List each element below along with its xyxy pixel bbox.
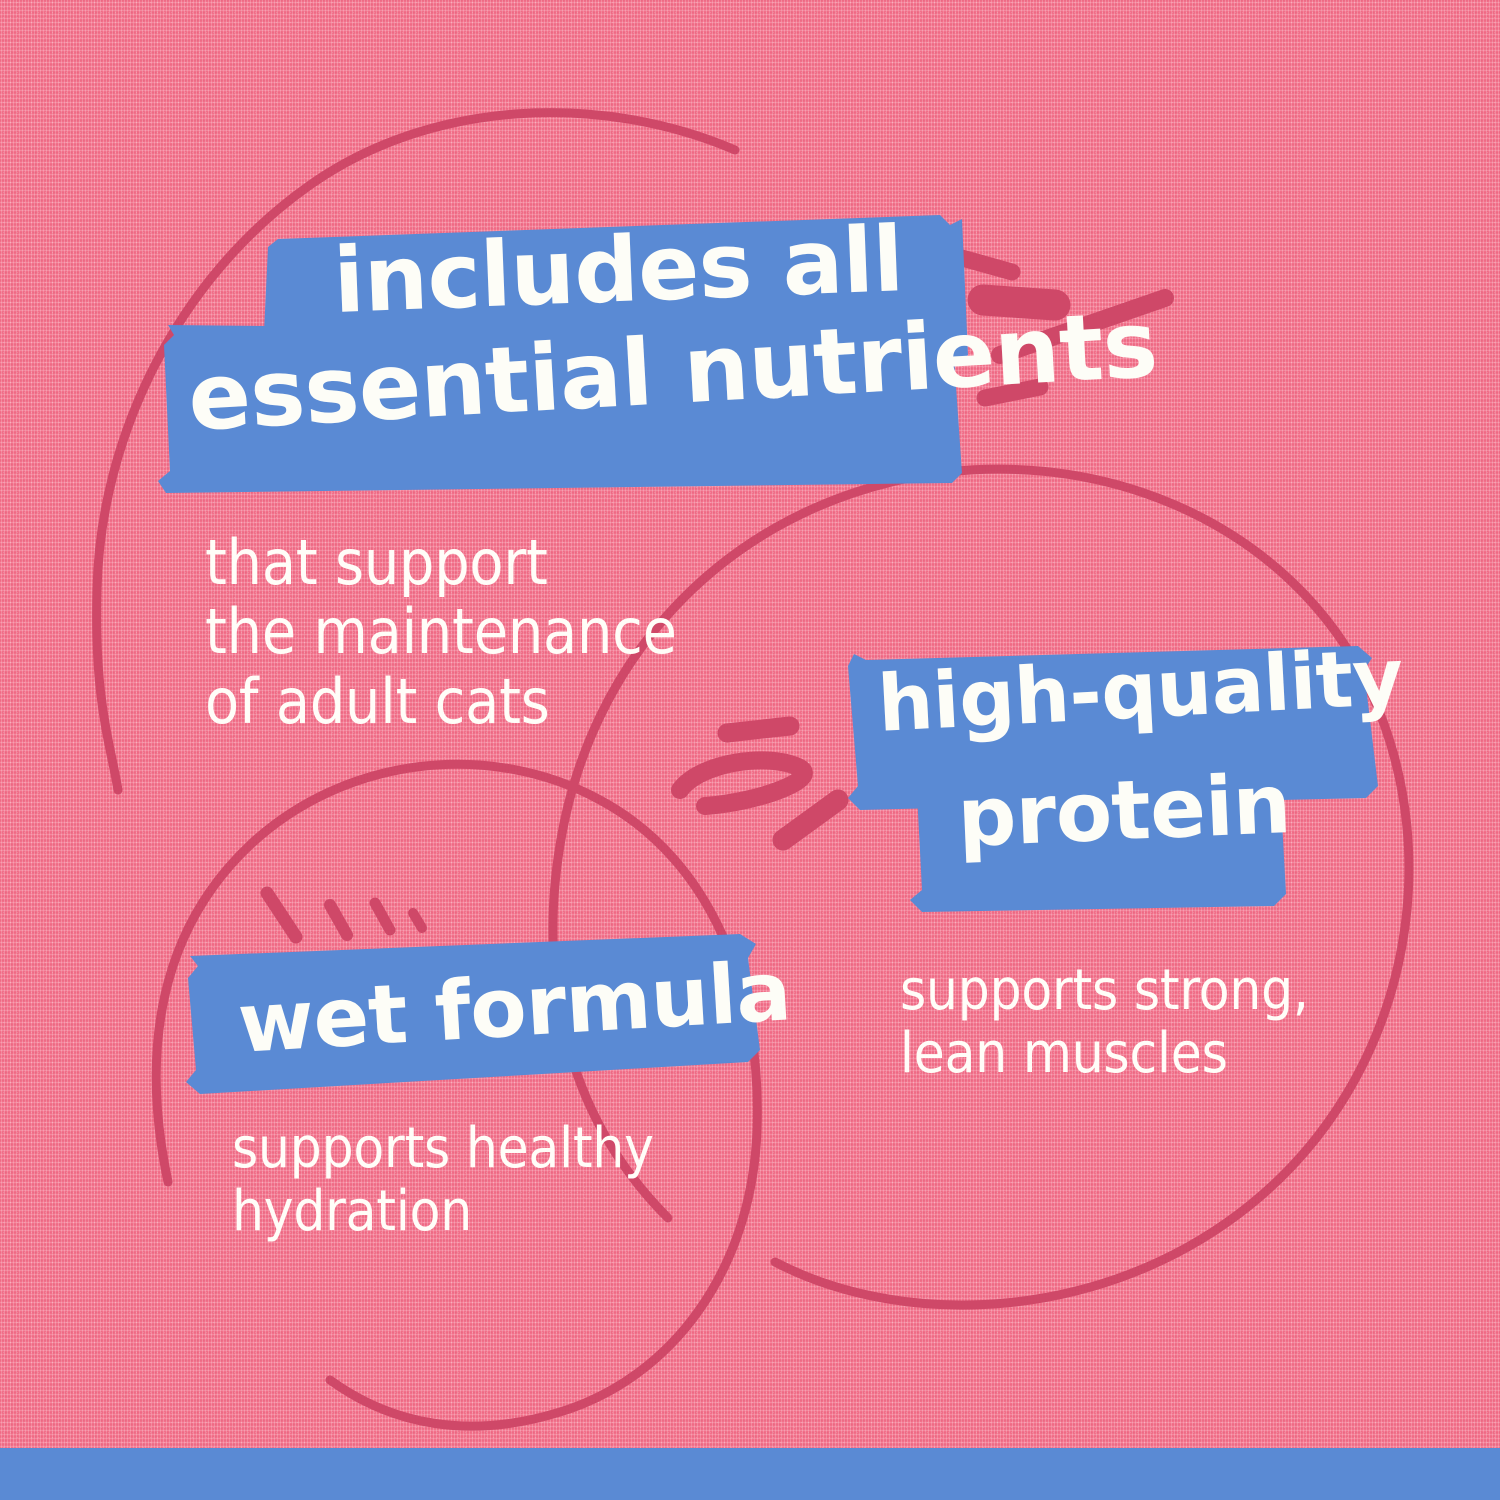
- body-copy-high-quality-protein: supports strong, lean muscles: [900, 960, 1309, 1085]
- body-copy-essential-nutrients: that support the maintenance of adult ca…: [205, 528, 677, 736]
- badge-wet-formula: wet formula: [180, 930, 780, 1110]
- badge-high-quality-protein: high-quality protein: [838, 640, 1398, 920]
- badge-line-essential-nutrients-1: includes all: [332, 217, 905, 324]
- bottom-accent-bar: [0, 1448, 1500, 1500]
- body-copy-wet-formula: supports healthy hydration: [232, 1118, 654, 1243]
- dash-cluster-middle: [680, 726, 838, 840]
- badge-essential-nutrients: includes all essential nutrients: [150, 205, 1030, 505]
- promo-graphic: includes all essential nutrients that su…: [0, 0, 1500, 1500]
- badge-line-high-quality-protein-2: protein: [956, 766, 1292, 858]
